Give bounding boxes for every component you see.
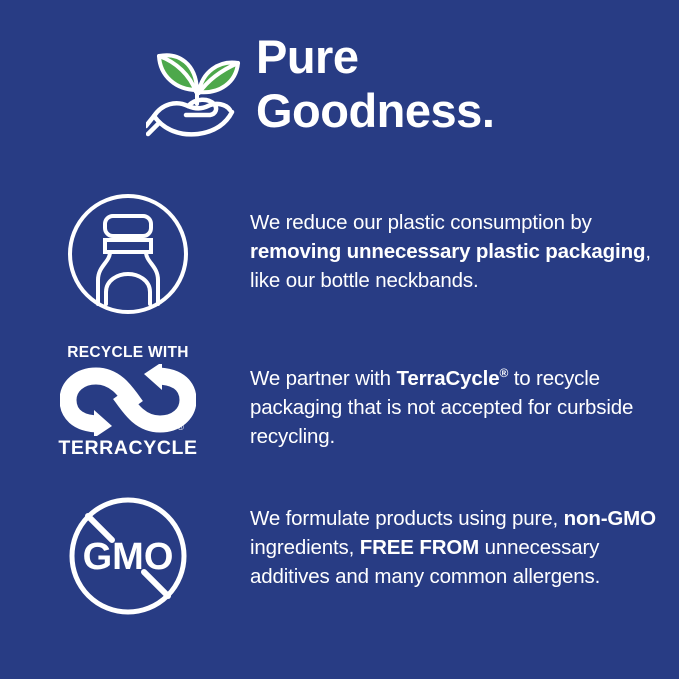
benefit-text-bold: removing unnecessary plastic packaging — [250, 240, 645, 263]
benefit-text-gmo: We formulate products using pure, non-GM… — [250, 494, 679, 591]
no-gmo-circle-icon: GMO — [60, 494, 196, 620]
bottle-neckband-circle-icon — [60, 192, 196, 318]
benefit-text-plastic: We reduce our plastic consumption by rem… — [250, 192, 679, 295]
benefit-row-terracycle: RECYCLE WITH ® TERR — [0, 344, 679, 459]
terracycle-logo-bottom-label: TERRACYCLE — [58, 437, 197, 459]
registered-mark: ® — [499, 366, 508, 380]
terracycle-logo-top-label: RECYCLE WITH — [67, 344, 189, 361]
pure-goodness-poster: Pure Goodness. We reduce our plastic con… — [0, 0, 679, 679]
benefit-text-bold: FREE FROM — [360, 536, 479, 559]
header: Pure Goodness. — [0, 24, 679, 154]
terracycle-registered-mark: ® — [177, 422, 184, 432]
benefit-text-bold: TerraCycle — [396, 367, 499, 390]
hand-holding-plant-icon — [146, 30, 250, 140]
benefit-text-terracycle: We partner with TerraCycle® to recycle p… — [250, 344, 679, 451]
benefit-text-bold: non-GMO — [564, 507, 656, 530]
benefit-text-part: We formulate products using pure, — [250, 507, 564, 530]
terracycle-logo: RECYCLE WITH ® TERR — [60, 344, 196, 459]
benefit-row-gmo: GMO We formulate products using pure, no… — [0, 494, 679, 620]
recycle-infinity-loop-icon — [60, 364, 196, 436]
benefit-text-part: ingredients, — [250, 536, 360, 559]
benefit-row-plastic: We reduce our plastic consumption by rem… — [0, 192, 679, 318]
benefit-text-part: We partner with — [250, 367, 396, 390]
benefit-text-part: We reduce our plastic consumption by — [250, 211, 592, 234]
no-gmo-label: GMO — [83, 536, 174, 578]
page-title: Pure Goodness. — [256, 24, 494, 138]
